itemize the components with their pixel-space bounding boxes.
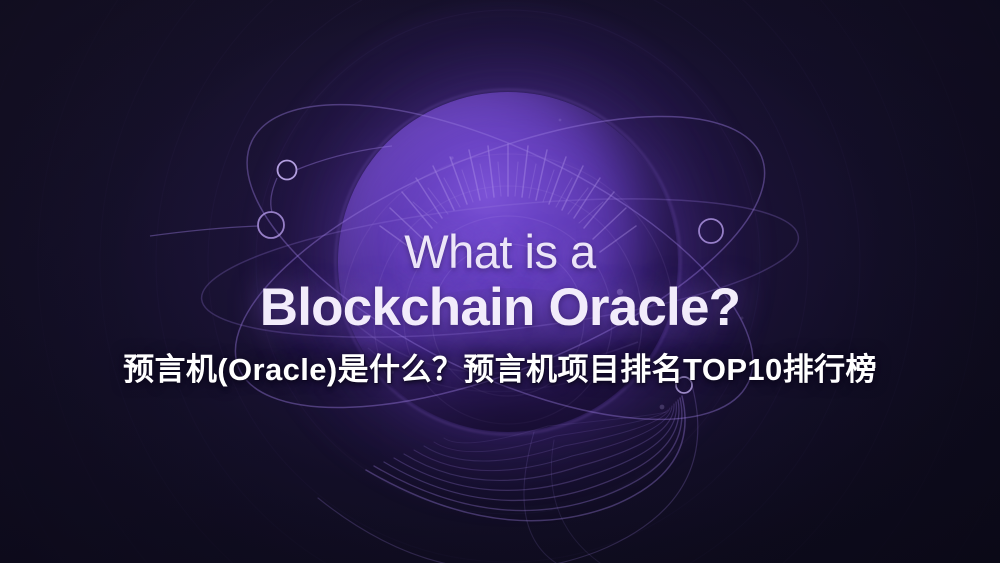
vignette-overlay [0,0,1000,563]
cover-image-stage: What is a Blockchain Oracle? 预言机(Oracle)… [0,0,1000,563]
